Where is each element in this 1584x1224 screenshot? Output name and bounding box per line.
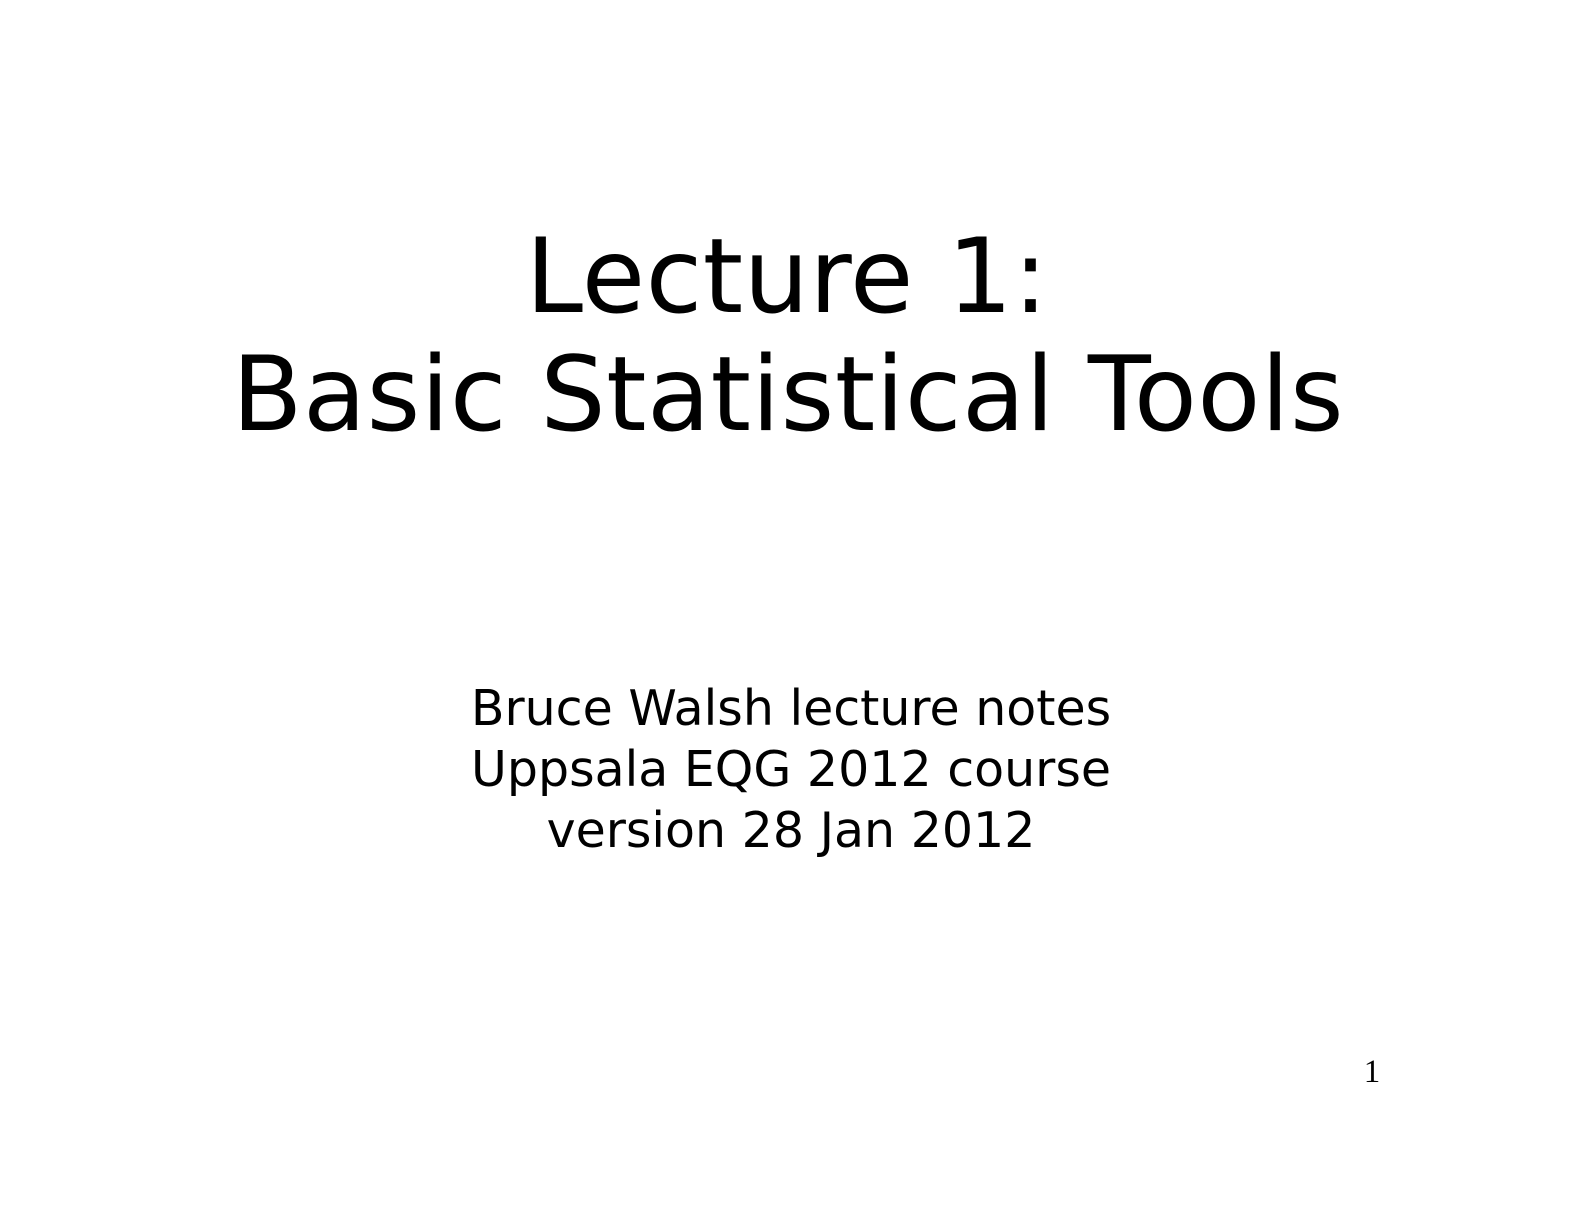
- title-line-1: Lecture 1:: [0, 218, 1584, 336]
- slide-title: Lecture 1: Basic Statistical Tools: [0, 218, 1584, 454]
- slide-subtitle: Bruce Walsh lecture notes Uppsala EQG 20…: [0, 678, 1584, 861]
- title-line-2: Basic Statistical Tools: [0, 336, 1584, 454]
- subtitle-line-author: Bruce Walsh lecture notes: [0, 678, 1584, 739]
- subtitle-line-version: version 28 Jan 2012: [0, 800, 1584, 861]
- slide-canvas: Lecture 1: Basic Statistical Tools Bruce…: [0, 0, 1584, 1224]
- subtitle-line-course: Uppsala EQG 2012 course: [0, 739, 1584, 800]
- page-number: 1: [1352, 1056, 1392, 1089]
